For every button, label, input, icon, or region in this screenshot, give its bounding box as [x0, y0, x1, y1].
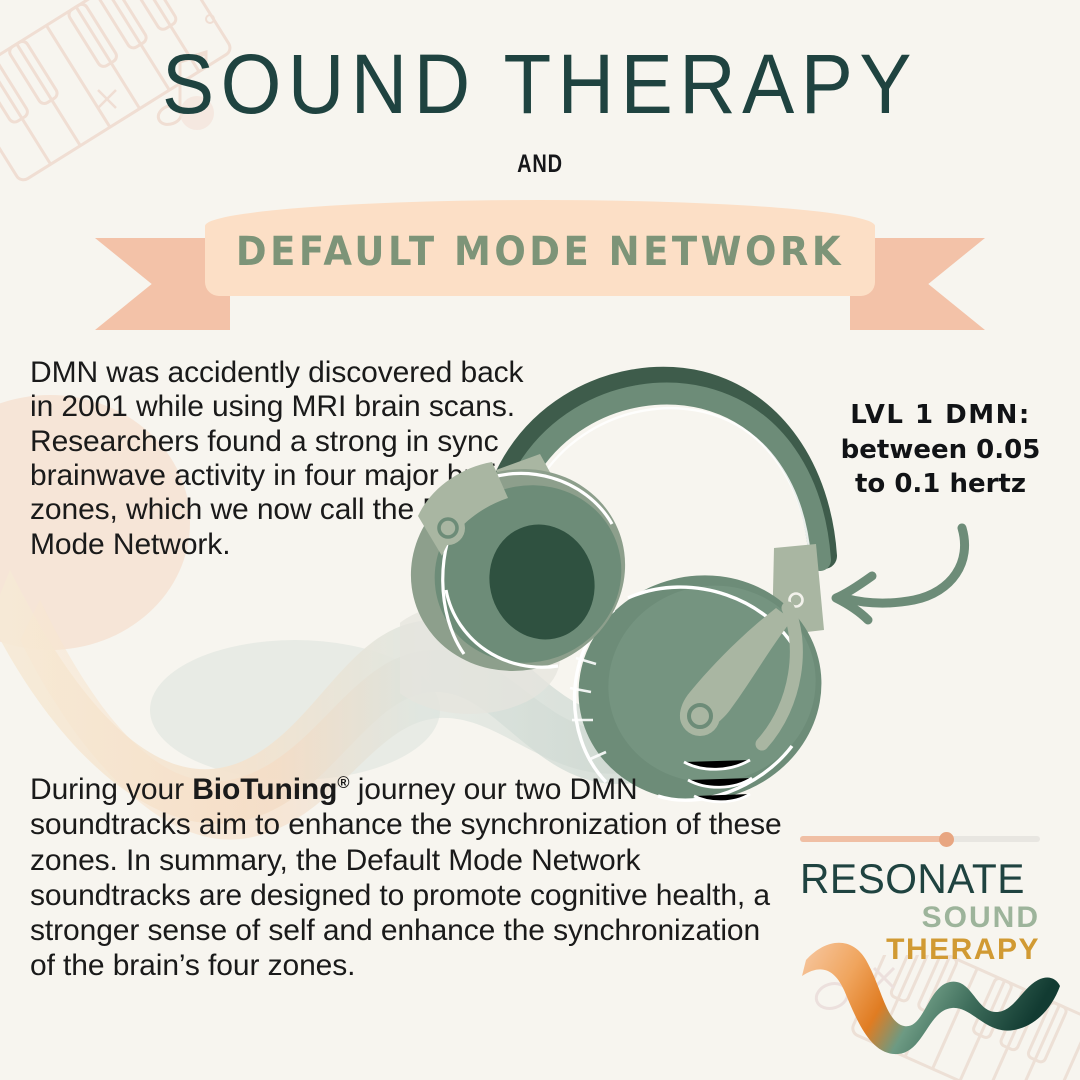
infographic-canvas: SOUND THERAPY AND DEFAULT MODE NETWORK D…	[0, 0, 1080, 1080]
slider-fill	[800, 836, 949, 842]
annotation-callout: LVL 1 DMN: between 0.05 to 0.1 hertz	[828, 398, 1053, 502]
page-title: SOUND THERAPY	[38, 42, 1042, 126]
headphones-illustration	[400, 358, 860, 828]
decor-blob-sage	[150, 640, 440, 780]
logo-tagline: SOUND THERAPY	[800, 902, 1040, 965]
logo-slider	[800, 832, 1040, 844]
banner: DEFAULT MODE NETWORK	[95, 193, 985, 343]
summary-pre: During your	[30, 773, 192, 806]
annotation-line-3: to 0.1 hertz	[828, 467, 1053, 502]
logo-tagline-sound: SOUND	[800, 902, 1040, 934]
logo-wordmark: RESONATE	[800, 858, 1033, 900]
curved-arrow-icon	[810, 518, 1020, 633]
paragraph-summary: During your BioTuning® journey our two D…	[30, 772, 790, 984]
banner-label: DEFAULT MODE NETWORK	[236, 228, 844, 274]
brand-logo: RESONATE SOUND THERAPY	[800, 832, 1040, 965]
logo-tagline-therapy: THERAPY	[800, 934, 1040, 966]
brand-biotuning: BioTuning®	[192, 773, 349, 806]
annotation-line-1: LVL 1 DMN:	[828, 398, 1053, 433]
registered-mark: ®	[337, 774, 349, 792]
decor-dot	[205, 14, 215, 24]
banner-body: DEFAULT MODE NETWORK	[205, 200, 875, 296]
annotation-line-2: between 0.05	[828, 433, 1053, 468]
brand-name: BioTuning	[192, 773, 337, 806]
slider-knob	[939, 832, 954, 847]
title-conjunction: AND	[108, 150, 972, 179]
